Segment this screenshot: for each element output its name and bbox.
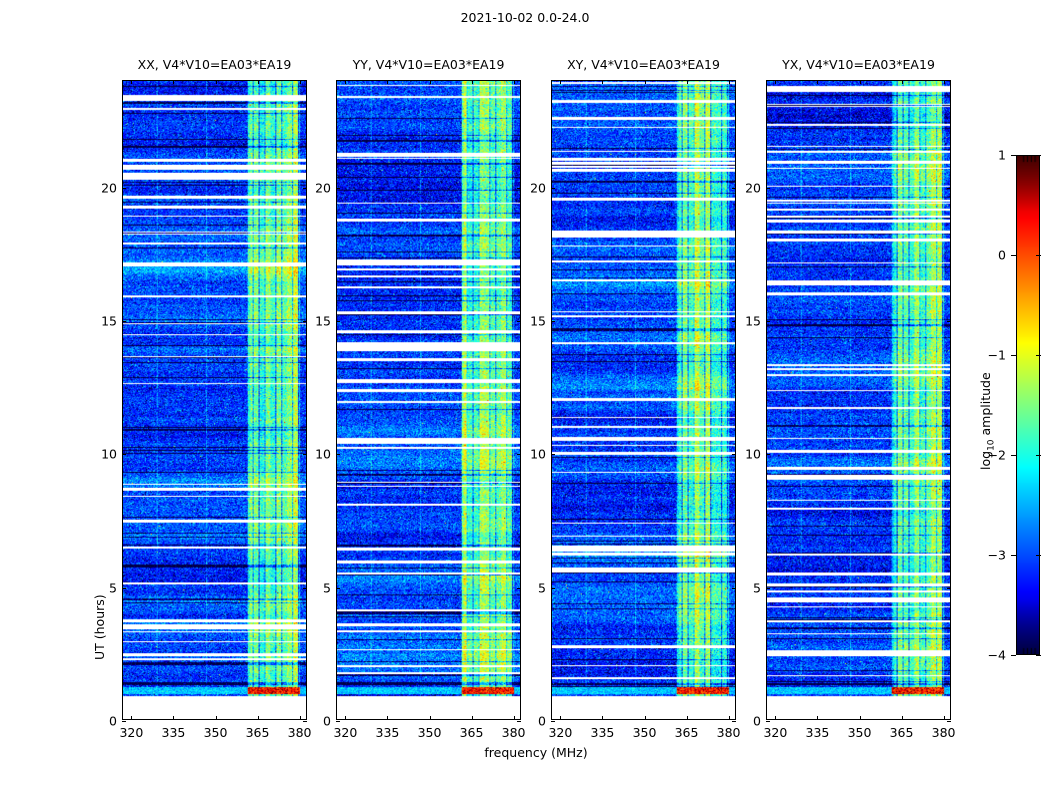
x-axis-tick-label: 365 bbox=[675, 725, 699, 740]
waterfall-image bbox=[767, 81, 950, 719]
plot-panel-yx[interactable]: YX, V4*V10=EA03*EA1932033535036538005101… bbox=[766, 80, 951, 720]
colorbar-tick-label: 0 bbox=[0, 248, 1006, 263]
y-axis-tick bbox=[732, 721, 736, 722]
x-axis-tick bbox=[173, 80, 174, 84]
x-axis-tick bbox=[560, 716, 561, 720]
y-axis-tick bbox=[947, 188, 951, 189]
x-axis-tick bbox=[387, 80, 388, 84]
y-axis-tick bbox=[122, 188, 126, 189]
x-axis-tick bbox=[514, 80, 515, 84]
y-axis-tick-label: 15 bbox=[315, 314, 331, 329]
y-axis-tick bbox=[947, 721, 951, 722]
y-axis-tick bbox=[766, 188, 770, 189]
y-axis-tick bbox=[551, 188, 555, 189]
x-axis-tick-label: 335 bbox=[591, 725, 615, 740]
waterfall-image bbox=[552, 81, 735, 719]
y-axis-tick bbox=[303, 721, 307, 722]
y-axis-tick bbox=[732, 188, 736, 189]
y-axis-tick bbox=[303, 321, 307, 322]
y-axis-tick bbox=[551, 721, 555, 722]
y-axis-tick-label: 20 bbox=[315, 180, 331, 195]
x-axis-tick bbox=[687, 716, 688, 720]
y-axis-tick-label: 15 bbox=[101, 314, 117, 329]
colorbar-tick-label: −2 bbox=[0, 448, 1006, 463]
x-axis-tick bbox=[817, 80, 818, 84]
x-axis-tick-label: 365 bbox=[246, 725, 270, 740]
x-axis-tick-label: 380 bbox=[717, 725, 741, 740]
y-axis-tick bbox=[336, 188, 340, 189]
x-axis-tick bbox=[817, 716, 818, 720]
x-axis-tick-label: 350 bbox=[418, 725, 442, 740]
colorbar-label-sub: 10 bbox=[987, 439, 997, 450]
waterfall-plot-area[interactable]: 32033535036538005101520 bbox=[551, 80, 736, 720]
x-axis-tick bbox=[472, 716, 473, 720]
y-axis-tick bbox=[517, 321, 521, 322]
y-axis-tick-label: 0 bbox=[109, 714, 117, 729]
x-axis-tick bbox=[560, 80, 561, 84]
x-axis-tick bbox=[902, 80, 903, 84]
x-axis-tick-label: 365 bbox=[460, 725, 484, 740]
x-axis-label: frequency (MHz) bbox=[122, 745, 950, 760]
y-axis-tick-label: 5 bbox=[538, 580, 546, 595]
y-axis-tick-label: 20 bbox=[530, 180, 546, 195]
colorbar-tick bbox=[1036, 655, 1041, 656]
y-axis-tick bbox=[303, 188, 307, 189]
y-axis-tick bbox=[122, 588, 126, 589]
x-axis-tick bbox=[472, 80, 473, 84]
x-axis-tick bbox=[300, 80, 301, 84]
colorbar-gradient bbox=[1017, 156, 1039, 654]
y-axis-tick bbox=[517, 721, 521, 722]
x-axis-tick bbox=[430, 80, 431, 84]
y-axis-tick bbox=[766, 721, 770, 722]
y-axis-tick bbox=[766, 588, 770, 589]
y-axis-tick bbox=[336, 588, 340, 589]
waterfall-plot-area[interactable]: 32033535036538005101520 bbox=[336, 80, 521, 720]
x-axis-tick bbox=[345, 716, 346, 720]
x-axis-tick bbox=[602, 80, 603, 84]
y-axis-tick bbox=[732, 588, 736, 589]
colorbar-tick-label: −3 bbox=[0, 548, 1006, 563]
x-axis-tick-label: 380 bbox=[932, 725, 956, 740]
x-axis-tick bbox=[131, 80, 132, 84]
x-axis-tick bbox=[687, 80, 688, 84]
plot-panel-xx[interactable]: XX, V4*V10=EA03*EA1932033535036538005101… bbox=[122, 80, 307, 720]
colorbar-tick bbox=[1011, 255, 1016, 256]
y-axis-tick-label: 0 bbox=[323, 714, 331, 729]
colorbar-label-main: log bbox=[978, 451, 993, 470]
y-axis-tick bbox=[766, 321, 770, 322]
y-axis-tick-label: 0 bbox=[538, 714, 546, 729]
colorbar-tick bbox=[1011, 155, 1016, 156]
x-axis-tick-label: 320 bbox=[119, 725, 143, 740]
x-axis-tick bbox=[775, 716, 776, 720]
y-axis-tick-label: 15 bbox=[530, 314, 546, 329]
y-axis-tick bbox=[517, 588, 521, 589]
x-axis-tick bbox=[216, 80, 217, 84]
figure-suptitle: 2021-10-02 0.0-24.0 bbox=[0, 10, 1050, 25]
x-axis-tick-label: 320 bbox=[333, 725, 357, 740]
y-axis-tick bbox=[517, 188, 521, 189]
panel-title: XY, V4*V10=EA03*EA19 bbox=[567, 57, 720, 72]
y-axis-tick bbox=[732, 321, 736, 322]
x-axis-tick-label: 350 bbox=[204, 725, 228, 740]
waterfall-image bbox=[123, 81, 306, 719]
x-axis-tick bbox=[860, 80, 861, 84]
y-axis-tick bbox=[122, 321, 126, 322]
x-axis-tick-label: 380 bbox=[502, 725, 526, 740]
x-axis-tick bbox=[944, 80, 945, 84]
x-axis-tick bbox=[602, 716, 603, 720]
y-axis-tick-label: 5 bbox=[753, 580, 761, 595]
x-axis-tick-label: 335 bbox=[376, 725, 400, 740]
x-axis-tick bbox=[645, 80, 646, 84]
x-axis-tick-label: 335 bbox=[162, 725, 186, 740]
y-axis-tick bbox=[551, 321, 555, 322]
x-axis-tick-label: 320 bbox=[763, 725, 787, 740]
x-axis-tick bbox=[729, 80, 730, 84]
x-axis-tick-label: 350 bbox=[848, 725, 872, 740]
colorbar-tick-label: −1 bbox=[0, 348, 1006, 363]
x-axis-tick bbox=[944, 716, 945, 720]
x-axis-tick bbox=[300, 716, 301, 720]
colorbar-tick bbox=[1036, 555, 1041, 556]
waterfall-plot-area[interactable]: 32033535036538005101520 bbox=[122, 80, 307, 720]
x-axis-tick bbox=[860, 716, 861, 720]
y-axis-tick-label: 5 bbox=[109, 580, 117, 595]
plot-panel-yy[interactable]: YY, V4*V10=EA03*EA1932033535036538005101… bbox=[336, 80, 521, 720]
colorbar-tick-label: −4 bbox=[0, 648, 1006, 663]
colorbar-tick bbox=[1011, 655, 1016, 656]
x-axis-tick bbox=[131, 716, 132, 720]
colorbar-tick bbox=[1036, 455, 1041, 456]
y-axis-tick-label: 20 bbox=[101, 180, 117, 195]
waterfall-plot-area[interactable]: 32033535036538005101520 bbox=[766, 80, 951, 720]
colorbar-tick bbox=[1011, 355, 1016, 356]
colorbar-tick bbox=[1036, 255, 1041, 256]
x-axis-tick bbox=[258, 716, 259, 720]
x-axis-tick-label: 380 bbox=[288, 725, 312, 740]
y-axis-tick-label: 5 bbox=[323, 580, 331, 595]
colorbar-tick bbox=[1011, 555, 1016, 556]
x-axis-tick-label: 320 bbox=[548, 725, 572, 740]
colorbar-tick bbox=[1011, 455, 1016, 456]
panel-title: YX, V4*V10=EA03*EA19 bbox=[782, 57, 935, 72]
y-axis-tick bbox=[122, 721, 126, 722]
x-axis-tick-label: 365 bbox=[890, 725, 914, 740]
x-axis-tick bbox=[258, 80, 259, 84]
x-axis-tick-label: 335 bbox=[806, 725, 830, 740]
panel-title: XX, V4*V10=EA03*EA19 bbox=[138, 57, 292, 72]
plot-panel-xy[interactable]: XY, V4*V10=EA03*EA1932033535036538005101… bbox=[551, 80, 736, 720]
y-axis-tick bbox=[336, 721, 340, 722]
x-axis-tick bbox=[514, 716, 515, 720]
colorbar-label-tail: amplitude bbox=[978, 372, 993, 439]
panel-title: YY, V4*V10=EA03*EA19 bbox=[353, 57, 505, 72]
y-axis-tick-label: 20 bbox=[745, 180, 761, 195]
x-axis-tick bbox=[216, 716, 217, 720]
colorbar-tick bbox=[1036, 155, 1041, 156]
y-axis-tick bbox=[336, 321, 340, 322]
x-axis-tick-label: 350 bbox=[633, 725, 657, 740]
y-axis-tick bbox=[947, 588, 951, 589]
x-axis-tick bbox=[173, 716, 174, 720]
colorbar-label: log10 amplitude bbox=[978, 372, 997, 470]
x-axis-tick bbox=[775, 80, 776, 84]
y-axis-tick-label: 0 bbox=[753, 714, 761, 729]
y-axis-tick bbox=[303, 588, 307, 589]
waterfall-image bbox=[337, 81, 520, 719]
y-axis-tick bbox=[551, 588, 555, 589]
x-axis-tick bbox=[729, 716, 730, 720]
colorbar[interactable] bbox=[1016, 155, 1040, 655]
x-axis-tick bbox=[345, 80, 346, 84]
x-axis-tick bbox=[430, 716, 431, 720]
colorbar-tick bbox=[1036, 355, 1041, 356]
y-axis-tick bbox=[947, 321, 951, 322]
x-axis-tick bbox=[902, 716, 903, 720]
x-axis-tick bbox=[387, 716, 388, 720]
colorbar-tick-label: 1 bbox=[0, 148, 1006, 163]
y-axis-tick-label: 15 bbox=[745, 314, 761, 329]
x-axis-tick bbox=[645, 716, 646, 720]
